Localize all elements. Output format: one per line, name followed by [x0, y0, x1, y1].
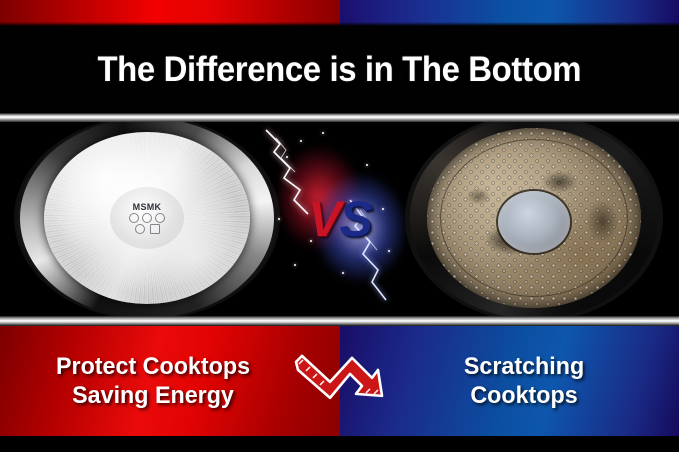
versus-s: S: [340, 191, 371, 247]
bottom-red-half: Protect Cooktops Saving Energy: [0, 326, 340, 436]
hub-icon-row-1: [129, 213, 165, 223]
footer-black-strip: [0, 436, 679, 452]
brand-label: MSMK: [133, 202, 162, 212]
bad-pan-image: [405, 122, 663, 316]
versus-v: V: [308, 191, 339, 247]
good-pan-image: MSMK: [14, 122, 280, 316]
oven-safe-icon: [150, 224, 160, 234]
induction-icon: [129, 213, 139, 223]
right-caption-line-1: Scratching: [464, 352, 584, 381]
metallic-rail-top: [0, 113, 679, 122]
top-band-red-half: [0, 0, 340, 26]
bad-pan-surface: [427, 128, 641, 308]
top-band-blue-half: [340, 0, 679, 26]
title-zone: The Difference is in The Bottom: [0, 26, 679, 114]
good-pan-brushed-disc: MSMK: [44, 132, 250, 304]
right-caption: Scratching Cooktops: [464, 352, 584, 411]
left-caption-line-2: Saving Energy: [56, 381, 250, 410]
comparison-stage: MSMK: [0, 122, 679, 316]
page-title: The Difference is in The Bottom: [98, 50, 582, 90]
electric-icon: [155, 213, 165, 223]
versus-cluster: VS: [270, 122, 410, 316]
right-caption-line-2: Cooktops: [464, 381, 584, 410]
versus-label: VS: [308, 190, 371, 248]
gas-icon: [142, 213, 152, 223]
bad-pan-center-burn: [498, 191, 570, 253]
bottom-blue-half: Scratching Cooktops: [340, 326, 679, 436]
left-caption: Protect Cooktops Saving Energy: [56, 352, 250, 411]
downward-zigzag-arrow-icon: [292, 352, 388, 408]
halogen-icon: [135, 224, 145, 234]
product-comparison-poster: The Difference is in The Bottom MSMK: [0, 0, 679, 452]
hub-icon-row-2: [135, 224, 160, 234]
bottom-caption-band: Protect Cooktops Saving Energy Scratchin…: [0, 326, 679, 436]
left-caption-line-1: Protect Cooktops: [56, 352, 250, 381]
top-color-band: [0, 0, 679, 26]
brand-hub: MSMK: [110, 187, 184, 249]
metallic-rail-bottom: [0, 316, 679, 326]
